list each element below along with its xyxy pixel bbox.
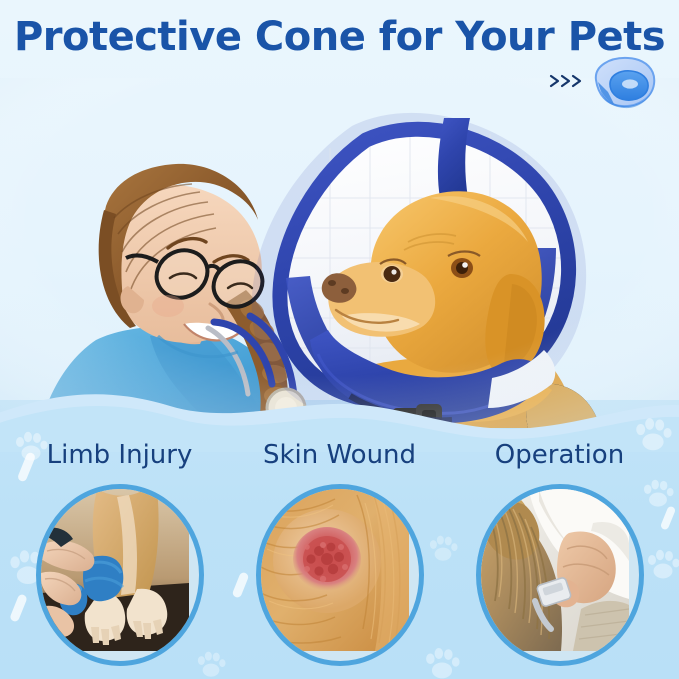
- page-title: Protective Cone for Your Pets: [0, 14, 679, 60]
- feature-label: Skin Wound: [232, 438, 447, 472]
- protective-cone-product-icon: [586, 54, 660, 112]
- operation-photo: [476, 484, 644, 666]
- feature-operation: Operation: [452, 438, 667, 666]
- product-infographic-poster: Protective Cone for Your Pets: [0, 0, 679, 679]
- feature-skin-wound: Skin Wound: [232, 438, 447, 666]
- feature-label: Operation: [452, 438, 667, 472]
- use-case-section: Limb Injury: [0, 438, 679, 679]
- limb-injury-photo: [36, 484, 204, 666]
- skin-wound-photo: [256, 484, 424, 666]
- feature-label: Limb Injury: [12, 438, 227, 472]
- chevron-right-icon: [548, 72, 584, 95]
- feature-limb-injury: Limb Injury: [12, 438, 227, 666]
